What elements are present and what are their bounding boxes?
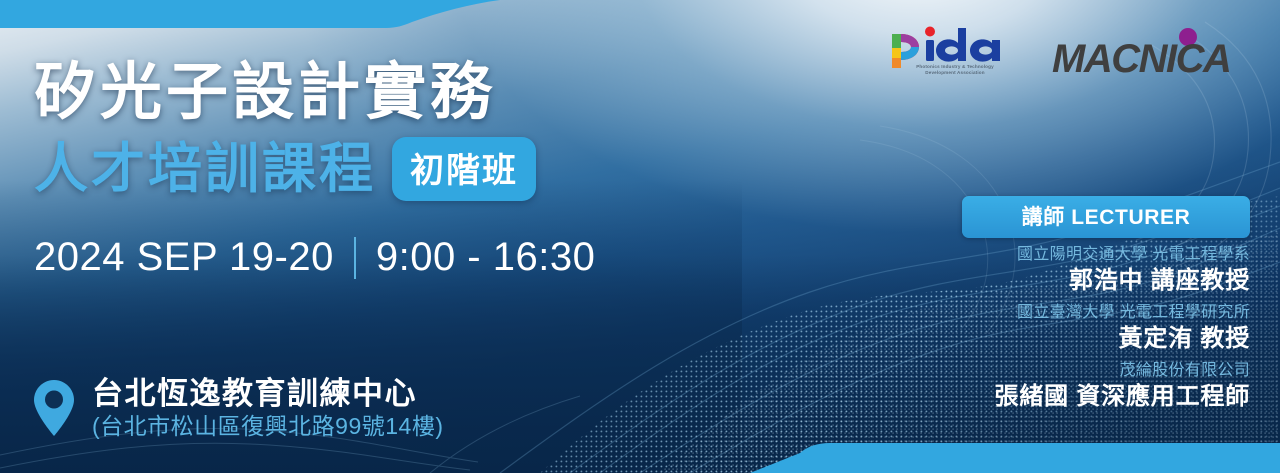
- page-title-line1: 矽光子設計實務: [34, 60, 674, 125]
- venue-name: 台北恆逸教育訓練中心: [92, 376, 443, 412]
- schedule-divider: [354, 237, 356, 279]
- logo-group: Photonics Industry & Technology Developm…: [886, 24, 1244, 84]
- macnica-logo: MACNICA: [1052, 28, 1244, 80]
- lecturer-item: 國立陽明交通大學 光電工程學系 郭浩中 講座教授: [962, 245, 1250, 296]
- event-date: 2024 SEP 19-20: [34, 235, 334, 280]
- lecturer-organization: 國立陽明交通大學 光電工程學系: [962, 245, 1250, 265]
- page-title-line2-row: 人才培訓課程 初階班: [34, 137, 674, 201]
- map-pin-icon: [34, 380, 74, 436]
- pida-logo: Photonics Industry & Technology Developm…: [886, 24, 1008, 84]
- lecturer-name: 張緒國 資深應用工程師: [962, 382, 1250, 412]
- lecturer-name: 郭浩中 講座教授: [962, 266, 1250, 296]
- lecturer-organization: 國立臺灣大學 光電工程學研究所: [962, 303, 1250, 323]
- svg-text:MACNICA: MACNICA: [1052, 37, 1230, 80]
- venue-address: (台北市松山區復興北路99號14樓): [92, 413, 443, 441]
- lecturer-panel-header: 講師 LECTURER: [962, 196, 1250, 238]
- pida-logo-subtitle: Photonics Industry & Technology Developm…: [902, 64, 1008, 76]
- level-badge: 初階班: [392, 137, 536, 201]
- event-time: 9:00 - 16:30: [376, 235, 596, 280]
- lecturer-name: 黃定洧 教授: [962, 324, 1250, 354]
- page-title-line2: 人才培訓課程: [34, 141, 376, 198]
- lecturer-item: 茂綸股份有限公司 張緒國 資深應用工程師: [962, 361, 1250, 412]
- lecturer-organization: 茂綸股份有限公司: [962, 361, 1250, 381]
- lecturer-item: 國立臺灣大學 光電工程學研究所 黃定洧 教授: [962, 303, 1250, 354]
- venue-block: 台北恆逸教育訓練中心 (台北市松山區復興北路99號14樓): [34, 376, 443, 441]
- lecturer-panel: 講師 LECTURER 國立陽明交通大學 光電工程學系 郭浩中 講座教授 國立臺…: [962, 196, 1250, 412]
- schedule-row: 2024 SEP 19-20 9:00 - 16:30: [34, 235, 674, 280]
- headline-block: 矽光子設計實務 人才培訓課程 初階班 2024 SEP 19-20 9:00 -…: [34, 60, 674, 280]
- bottom-right-ribbon: [750, 443, 1280, 473]
- top-left-ribbon: [0, 0, 500, 28]
- venue-text: 台北恆逸教育訓練中心 (台北市松山區復興北路99號14樓): [92, 376, 443, 441]
- event-banner: Photonics Industry & Technology Developm…: [0, 0, 1280, 473]
